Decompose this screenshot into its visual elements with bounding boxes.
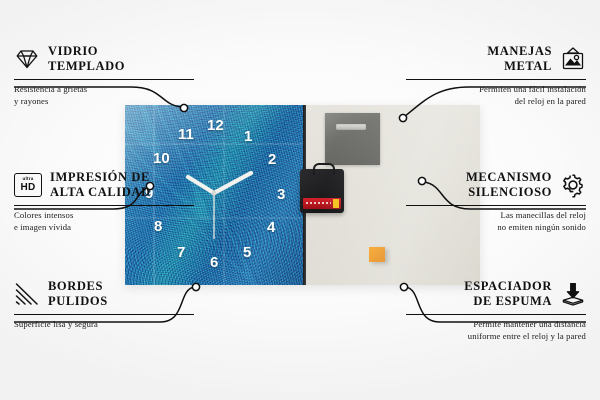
feature-desc-line2: no emiten ningún sonido bbox=[406, 222, 586, 234]
feature-title: MECANISMO SILENCIOSO bbox=[466, 170, 552, 201]
feature-title-line1: MECANISMO bbox=[466, 170, 552, 185]
battery bbox=[303, 198, 341, 209]
feature-bordes-pulidos: BORDES PULIDOS Superficie lisa y segura bbox=[14, 279, 194, 331]
ultra-hd-icon: ultra HD bbox=[14, 173, 42, 197]
feature-divider bbox=[406, 314, 586, 315]
feature-impresion-alta-calidad: ultra HD IMPRESIÓN DE ALTA CALIDAD Color… bbox=[14, 170, 194, 234]
battery-terminal bbox=[333, 199, 339, 208]
feature-description: Superficie lisa y segura bbox=[14, 319, 194, 331]
arrow-down-pad-icon bbox=[560, 281, 586, 307]
diamond-icon bbox=[14, 46, 40, 72]
feature-title-line2: TEMPLADO bbox=[48, 59, 125, 74]
gear-icon bbox=[560, 172, 586, 198]
feature-header: BORDES PULIDOS bbox=[14, 279, 194, 310]
framed-picture-icon bbox=[560, 46, 586, 72]
feature-description: Las manecillas del reloj no emiten ningú… bbox=[406, 210, 586, 234]
feature-title: IMPRESIÓN DE ALTA CALIDAD bbox=[50, 170, 151, 201]
feature-header: MANEJAS METAL bbox=[406, 44, 586, 75]
feature-title-line1: BORDES bbox=[48, 279, 108, 294]
feature-espaciador-espuma: ESPACIADOR DE ESPUMA Permite mantener un… bbox=[406, 279, 586, 343]
feature-desc-line2: e imagen vívida bbox=[14, 222, 194, 234]
feature-desc-line2: del reloj en la pared bbox=[406, 96, 586, 108]
feature-header: ultra HD IMPRESIÓN DE ALTA CALIDAD bbox=[14, 170, 194, 201]
feature-desc-line2: y rayones bbox=[14, 96, 194, 108]
feature-description: Permiten una fácil instalación del reloj… bbox=[406, 84, 586, 108]
feature-title: MANEJAS METAL bbox=[487, 44, 552, 75]
feature-vidrio-templado: VIDRIO TEMPLADO Resistencia a grietas y … bbox=[14, 44, 194, 108]
feature-description: Colores intensos e imagen vívida bbox=[14, 210, 194, 234]
clock-mechanism bbox=[300, 169, 344, 213]
feature-divider bbox=[14, 314, 194, 315]
battery-stripe bbox=[306, 202, 331, 204]
feature-desc-line2: uniforme entre el reloj y la pared bbox=[406, 331, 586, 343]
diagonal-lines-icon bbox=[14, 281, 40, 307]
feature-desc-line1: Permiten una fácil instalación bbox=[406, 84, 586, 96]
feature-title-line2: SILENCIOSO bbox=[466, 185, 552, 200]
feature-title: ESPACIADOR DE ESPUMA bbox=[464, 279, 552, 310]
feature-desc-line1: Resistencia a grietas bbox=[14, 84, 194, 96]
feature-title-line1: MANEJAS bbox=[487, 44, 552, 59]
feature-divider bbox=[406, 79, 586, 80]
feature-title-line1: IMPRESIÓN DE bbox=[50, 170, 151, 185]
infographic-canvas: 12 1 2 3 4 5 6 7 8 9 10 11 bbox=[0, 0, 600, 400]
feature-description: Permite mantener una distancia uniforme … bbox=[406, 319, 586, 343]
feature-desc-line1: Colores intensos bbox=[14, 210, 194, 222]
feature-title-line2: DE ESPUMA bbox=[464, 294, 552, 309]
feature-desc-line1: Permite mantener una distancia bbox=[406, 319, 586, 331]
feature-header: ESPACIADOR DE ESPUMA bbox=[406, 279, 586, 310]
feature-divider bbox=[14, 205, 194, 206]
feature-title-line2: PULIDOS bbox=[48, 294, 108, 309]
feature-title-line2: ALTA CALIDAD bbox=[50, 185, 151, 200]
feature-desc-line1: Superficie lisa y segura bbox=[14, 319, 194, 331]
feature-title-line2: METAL bbox=[487, 59, 552, 74]
feature-divider bbox=[14, 79, 194, 80]
feature-header: VIDRIO TEMPLADO bbox=[14, 44, 194, 75]
metal-hanger-plate bbox=[325, 113, 380, 165]
feature-manejas-metal: MANEJAS METAL Permiten una fácil instala… bbox=[406, 44, 586, 108]
feature-desc-line1: Las manecillas del reloj bbox=[406, 210, 586, 222]
feature-header: MECANISMO SILENCIOSO bbox=[406, 170, 586, 201]
feature-title-line1: VIDRIO bbox=[48, 44, 125, 59]
feature-description: Resistencia a grietas y rayones bbox=[14, 84, 194, 108]
foam-spacer bbox=[369, 247, 385, 262]
hanger-slot bbox=[336, 124, 366, 130]
ultra-hd-icon-large-text: HD bbox=[20, 183, 35, 193]
feature-title-line1: ESPACIADOR bbox=[464, 279, 552, 294]
feature-divider bbox=[406, 205, 586, 206]
feature-mecanismo-silencioso: MECANISMO SILENCIOSO Las manecillas del … bbox=[406, 170, 586, 234]
feature-title: VIDRIO TEMPLADO bbox=[48, 44, 125, 75]
mechanism-hook bbox=[313, 163, 335, 175]
feature-title: BORDES PULIDOS bbox=[48, 279, 108, 310]
